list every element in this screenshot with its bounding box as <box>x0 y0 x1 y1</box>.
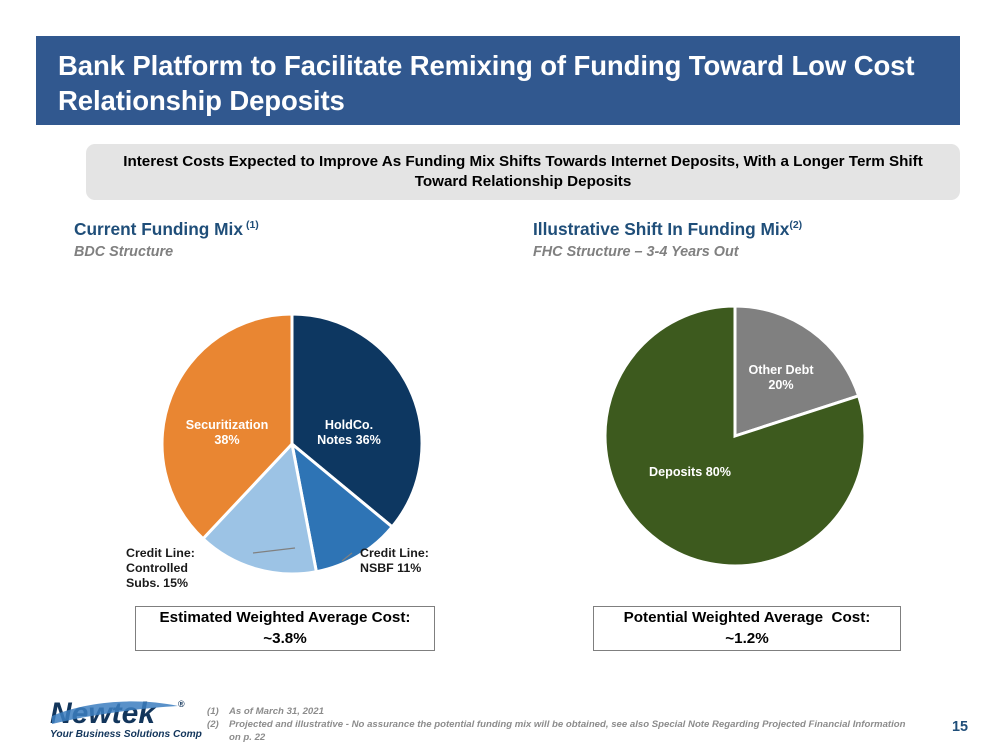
footnote-marker: (2) <box>207 718 229 744</box>
estimated-weighted-average-cost-box: Estimated Weighted Average Cost: ~3.8% <box>135 606 435 651</box>
footnote-text: Projected and illustrative - No assuranc… <box>229 718 907 744</box>
current-funding-mix-pie-chart: HoldCo.Notes 36%Securitization38% Credit… <box>120 296 465 596</box>
potential-weighted-average-cost-text: Potential Weighted Average Cost: ~1.2% <box>602 608 892 649</box>
subtitle-banner-text: Interest Costs Expected to Improve As Fu… <box>100 152 946 192</box>
page-title: Bank Platform to Facilitate Remixing of … <box>58 48 960 118</box>
right-pie-svg: Other Debt20%Deposits 80% <box>595 296 895 586</box>
right-column-header: Illustrative Shift In Funding Mix(2) FHC… <box>533 219 802 260</box>
callout-controlled-subs-line2: Controlled <box>126 561 188 575</box>
callout-controlled-subs-line3: Subs. 15% <box>126 576 188 590</box>
estimated-weighted-average-cost-text: Estimated Weighted Average Cost: ~3.8% <box>144 608 426 649</box>
label-securitization-line2: 38% <box>214 433 239 447</box>
footnote-text: As of March 31, 2021 <box>229 705 907 718</box>
left-column-subheading: BDC Structure <box>74 244 259 260</box>
right-column-heading: Illustrative Shift In Funding Mix(2) <box>533 219 802 240</box>
newtek-logo: Newtek ® Your Business Solutions Company… <box>50 694 202 742</box>
label-securitization-line1: Securitization <box>186 418 269 432</box>
right-pie-slice-group <box>605 306 865 566</box>
left-pie-svg: HoldCo.Notes 36%Securitization38% Credit… <box>120 296 465 596</box>
illustrative-shift-pie-chart: Other Debt20%Deposits 80% <box>595 296 895 586</box>
footnotes-block: (1) As of March 31, 2021 (2) Projected a… <box>207 705 907 745</box>
callout-controlled-subs-line1: Credit Line: <box>126 546 195 560</box>
right-column-heading-text: Illustrative Shift In Funding Mix <box>533 219 789 239</box>
page-number: 15 <box>952 719 968 735</box>
left-column-heading-footnote-marker: (1) <box>246 219 259 231</box>
newtek-logo-svg: Newtek ® Your Business Solutions Company… <box>50 694 202 742</box>
label-other-debt-line2: 20% <box>768 378 793 392</box>
left-column-heading-text: Current Funding Mix <box>74 219 243 239</box>
left-column-header: Current Funding Mix(1) BDC Structure <box>74 219 259 260</box>
label-holdco-notes-line2: Notes 36% <box>317 433 381 447</box>
footnote-row: (2) Projected and illustrative - No assu… <box>207 718 907 744</box>
subtitle-banner: Interest Costs Expected to Improve As Fu… <box>86 144 960 200</box>
right-column-subheading: FHC Structure – 3-4 Years Out <box>533 244 802 260</box>
slide-title-band: Bank Platform to Facilitate Remixing of … <box>36 36 960 125</box>
right-column-heading-footnote-marker: (2) <box>789 219 802 231</box>
left-pie-slice-group <box>162 314 422 574</box>
footnote-marker: (1) <box>207 705 229 718</box>
left-column-heading: Current Funding Mix(1) <box>74 219 259 240</box>
label-holdco-notes-line1: HoldCo. <box>325 418 373 432</box>
label-deposits-line1: Deposits 80% <box>649 465 731 479</box>
callout-nsbf-line2: NSBF 11% <box>360 561 421 575</box>
newtek-tagline: Your Business Solutions Company˚ <box>50 728 202 740</box>
callout-nsbf-line1: Credit Line: <box>360 546 429 560</box>
potential-weighted-average-cost-box: Potential Weighted Average Cost: ~1.2% <box>593 606 901 651</box>
newtek-registered-mark: ® <box>178 699 185 709</box>
label-other-debt-line1: Other Debt <box>748 363 814 377</box>
footnote-row: (1) As of March 31, 2021 <box>207 705 907 718</box>
